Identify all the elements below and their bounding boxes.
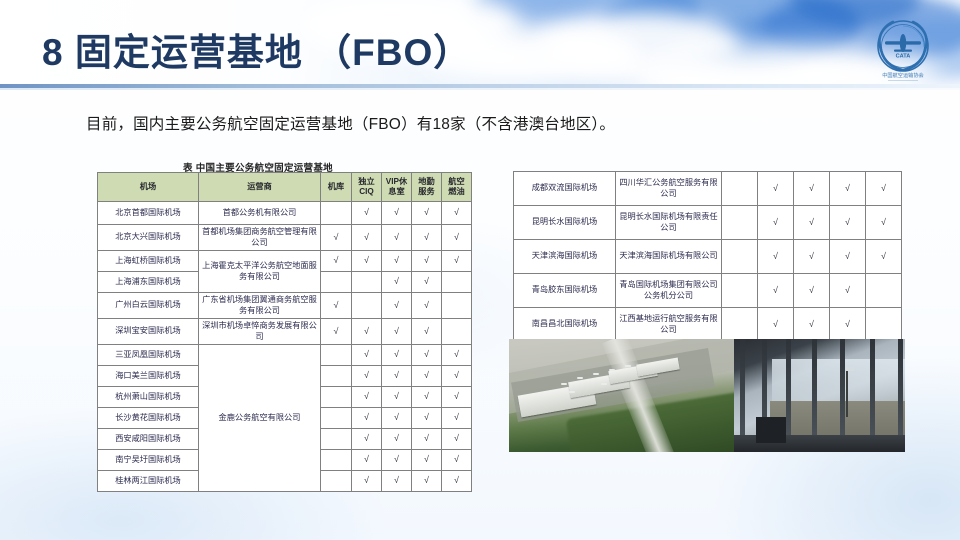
cata-logo: CATA 中国航空运输协会 [864,16,942,86]
service-check-cell: √ [412,319,442,345]
service-check-cell [442,272,472,293]
table-row: 昆明长水国际机场昆明长水国际机场有限责任公司√√√√ [514,206,902,240]
slide-canvas: 8 固定运营基地 （FBO） CATA 中国航空运输协会 目前，国内主要公务航空… [0,0,960,540]
service-check-cell: √ [794,274,830,308]
service-check-cell: √ [830,172,866,206]
service-check-cell: √ [412,450,442,471]
service-check-cell: √ [442,408,472,429]
service-check-cell: √ [442,471,472,492]
service-check-cell: √ [442,345,472,366]
service-check-cell [866,274,902,308]
service-check-cell: √ [352,471,382,492]
service-check-cell: √ [382,408,412,429]
operator-cell: 青岛国际机场集团有限公司公务机分公司 [616,274,722,308]
airport-name-cell: 三亚凤凰国际机场 [98,345,199,366]
service-check-cell [321,272,352,293]
service-check-cell: √ [758,172,794,206]
page-title: 8 固定运营基地 （FBO） [42,22,471,76]
table-row: 天津滨海国际机场天津滨海国际机场有限公司√√√√ [514,240,902,274]
table-col-header-5: 地勤服务 [412,173,442,202]
service-check-cell [321,450,352,471]
service-check-cell: √ [352,202,382,225]
service-check-cell [352,293,382,319]
airport-name-cell: 上海浦东国际机场 [98,272,199,293]
service-check-cell: √ [382,450,412,471]
airport-name-cell: 杭州萧山国际机场 [98,387,199,408]
service-check-cell: √ [794,206,830,240]
service-check-cell: √ [412,202,442,225]
table-row: 北京首都国际机场首都公务机有限公司√√√√ [98,202,472,225]
service-check-cell: √ [382,293,412,319]
service-check-cell [722,206,758,240]
fbo-table-left: 机场运营商机库独立CIQVIP休息室地勤服务航空燃油 北京首都国际机场首都公务机… [97,172,472,492]
service-check-cell: √ [412,293,442,319]
airport-name-cell: 深圳宝安国际机场 [98,319,199,345]
table-col-header-0: 机场 [98,173,199,202]
airport-name-cell: 北京大兴国际机场 [98,225,199,251]
service-check-cell: √ [830,274,866,308]
service-check-cell: √ [352,408,382,429]
service-check-cell [722,172,758,206]
airport-name-cell: 成都双流国际机场 [514,172,616,206]
table-row: 青岛胶东国际机场青岛国际机场集团有限公司公务机分公司√√√ [514,274,902,308]
service-check-cell [722,308,758,342]
service-check-cell: √ [794,172,830,206]
service-check-cell: √ [866,240,902,274]
service-check-cell [321,366,352,387]
service-check-cell [321,202,352,225]
fbo-aerial-photo [509,339,734,452]
service-check-cell: √ [442,225,472,251]
service-check-cell [442,319,472,345]
service-check-cell: √ [866,206,902,240]
airport-name-cell: 桂林两江国际机场 [98,471,199,492]
control-tower-window-photo [734,339,905,452]
table-header-row: 机场运营商机库独立CIQVIP休息室地勤服务航空燃油 [98,173,472,202]
operator-cell: 广东省机场集团翼通商务航空服务有限公司 [199,293,321,319]
service-check-cell: √ [442,450,472,471]
table-col-header-1: 运营商 [199,173,321,202]
table-row: 成都双流国际机场四川华汇公务航空服务有限公司√√√√ [514,172,902,206]
service-check-cell [321,408,352,429]
table-row: 南昌昌北国际机场江西基地运行航空服务有限公司√√√ [514,308,902,342]
service-check-cell: √ [321,293,352,319]
service-check-cell: √ [352,429,382,450]
service-check-cell: √ [352,366,382,387]
service-check-cell: √ [794,308,830,342]
airport-name-cell: 北京首都国际机场 [98,202,199,225]
service-check-cell [321,429,352,450]
service-check-cell: √ [758,206,794,240]
operator-cell: 天津滨海国际机场有限公司 [616,240,722,274]
service-check-cell: √ [442,429,472,450]
service-check-cell: √ [352,251,382,272]
logo-org-text: 中国航空运输协会 [882,71,924,79]
header-divider-line-secondary [0,88,960,90]
table-row: 广州白云国际机场广东省机场集团翼通商务航空服务有限公司√√√ [98,293,472,319]
airport-name-cell: 昆明长水国际机场 [514,206,616,240]
service-check-cell: √ [830,240,866,274]
airport-name-cell: 海口美兰国际机场 [98,366,199,387]
service-check-cell: √ [352,387,382,408]
service-check-cell: √ [382,319,412,345]
service-check-cell [442,293,472,319]
operator-cell: 昆明长水国际机场有限责任公司 [616,206,722,240]
service-check-cell: √ [794,240,830,274]
service-check-cell: √ [758,274,794,308]
service-check-cell: √ [321,225,352,251]
operator-cell: 四川华汇公务航空服务有限公司 [616,172,722,206]
service-check-cell: √ [758,240,794,274]
logo-acronym-text: CATA [896,54,911,60]
service-check-cell [321,387,352,408]
operator-cell: 首都公务机有限公司 [199,202,321,225]
service-check-cell: √ [412,429,442,450]
service-check-cell: √ [442,251,472,272]
service-check-cell: √ [352,450,382,471]
service-check-cell: √ [412,345,442,366]
service-check-cell: √ [830,206,866,240]
table-row: 北京大兴国际机场首都机场集团商务航空管理有限公司√√√√√ [98,225,472,251]
service-check-cell: √ [352,225,382,251]
service-check-cell: √ [382,387,412,408]
table-row: 三亚凤凰国际机场金鹿公务航空有限公司√√√√ [98,345,472,366]
table-col-header-4: VIP休息室 [382,173,412,202]
service-check-cell: √ [382,471,412,492]
lead-paragraph: 目前，国内主要公务航空固定运营基地（FBO）有18家（不含港澳台地区）。 [86,112,615,134]
service-check-cell: √ [412,272,442,293]
airport-name-cell: 南昌昌北国际机场 [514,308,616,342]
service-check-cell [352,272,382,293]
service-check-cell: √ [866,172,902,206]
airport-name-cell: 天津滨海国际机场 [514,240,616,274]
service-check-cell: √ [412,251,442,272]
service-check-cell: √ [442,366,472,387]
airport-name-cell: 长沙黄花国际机场 [98,408,199,429]
service-check-cell: √ [412,225,442,251]
service-check-cell: √ [382,251,412,272]
operator-cell: 金鹿公务航空有限公司 [199,345,321,492]
service-check-cell: √ [442,387,472,408]
service-check-cell: √ [321,319,352,345]
service-check-cell: √ [442,202,472,225]
service-check-cell: √ [758,308,794,342]
service-check-cell [866,308,902,342]
fbo-table-right: 成都双流国际机场四川华汇公务航空服务有限公司√√√√昆明长水国际机场昆明长水国际… [513,171,902,342]
service-check-cell: √ [382,202,412,225]
service-check-cell: √ [382,225,412,251]
table-row: 深圳宝安国际机场深圳市机场卓悴商务发展有限公司√√√√ [98,319,472,345]
photo-strip [509,339,905,452]
service-check-cell: √ [321,251,352,272]
service-check-cell: √ [382,366,412,387]
operator-cell: 上海霍克太平洋公务航空地面服务有限公司 [199,251,321,293]
operator-cell: 首都机场集团商务航空管理有限公司 [199,225,321,251]
table-col-header-2: 机库 [321,173,352,202]
service-check-cell: √ [412,471,442,492]
service-check-cell: √ [352,319,382,345]
service-check-cell: √ [412,366,442,387]
service-check-cell: √ [352,345,382,366]
service-check-cell: √ [412,387,442,408]
table-col-header-3: 独立CIQ [352,173,382,202]
airport-name-cell: 西安咸阳国际机场 [98,429,199,450]
service-check-cell: √ [382,272,412,293]
service-check-cell: √ [382,429,412,450]
airport-name-cell: 南宁吴圩国际机场 [98,450,199,471]
airport-name-cell: 上海虹桥国际机场 [98,251,199,272]
operator-cell: 江西基地运行航空服务有限公司 [616,308,722,342]
table-col-header-6: 航空燃油 [442,173,472,202]
airport-name-cell: 青岛胶东国际机场 [514,274,616,308]
service-check-cell [722,240,758,274]
airport-name-cell: 广州白云国际机场 [98,293,199,319]
service-check-cell [321,471,352,492]
service-check-cell: √ [412,408,442,429]
service-check-cell [722,274,758,308]
service-check-cell [321,345,352,366]
table-row: 上海虹桥国际机场上海霍克太平洋公务航空地面服务有限公司√√√√√ [98,251,472,272]
operator-cell: 深圳市机场卓悴商务发展有限公司 [199,319,321,345]
service-check-cell: √ [830,308,866,342]
service-check-cell: √ [382,345,412,366]
